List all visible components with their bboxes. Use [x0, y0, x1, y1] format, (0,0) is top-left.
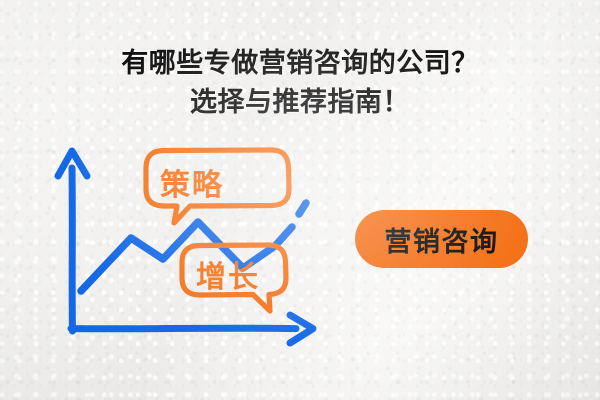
bubble-strategy-label: 策略 — [160, 160, 224, 204]
poster-canvas: 有哪些专做营销咨询的公司？选择与推荐指南！ — [0, 0, 600, 400]
x-axis — [71, 315, 313, 343]
trend-line-end-dash — [299, 203, 306, 214]
illustration — [0, 0, 600, 400]
bubble-growth-label: 增长 — [196, 252, 260, 296]
pill-badge-label: 营销咨询 — [355, 210, 528, 268]
y-axis — [58, 151, 87, 331]
